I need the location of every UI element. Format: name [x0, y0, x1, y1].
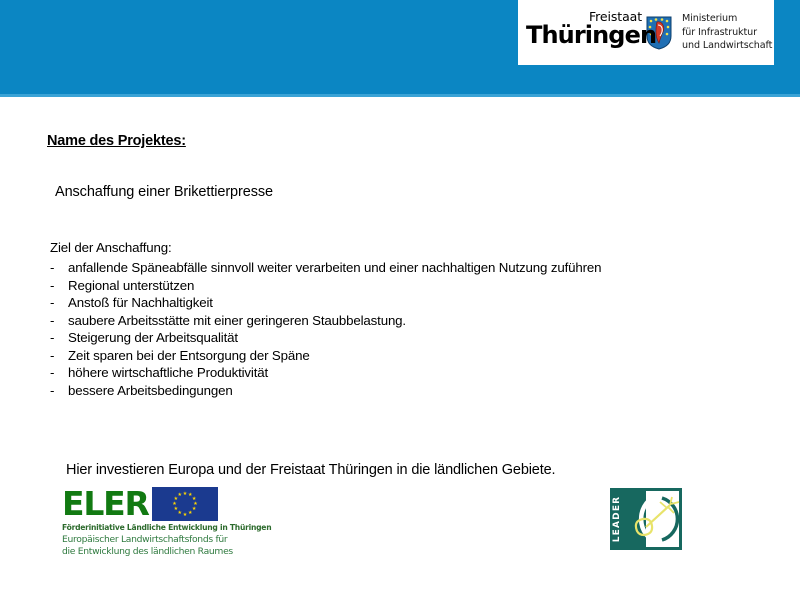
eu-flag-star-icon: ★: [188, 511, 192, 515]
eu-flag-star-icon: ★: [177, 511, 181, 515]
eu-flag-star-icon: ★: [177, 493, 181, 497]
funding-tagline: Hier investieren Europa und der Freistaa…: [66, 462, 555, 478]
goal-bullet-marker: -: [50, 259, 68, 277]
header-underline-strip: [0, 94, 800, 97]
goal-item-text: Steigerung der Arbeitsqualität: [68, 329, 238, 347]
eler-subtitle-initiative: Förderinitiative Ländliche Entwicklung i…: [62, 523, 238, 532]
goal-list-item: -Steigerung der Arbeitsqualität: [50, 329, 750, 347]
eler-subtitle-fund-line-1: Europäischer Landwirtschaftsfonds für: [62, 534, 238, 546]
goal-item-text: bessere Arbeitsbedingungen: [68, 382, 233, 400]
goals-list: -anfallende Späneabfälle sinnvoll weiter…: [50, 259, 750, 399]
goals-heading: Ziel der Anschaffung:: [50, 240, 750, 255]
freistaat-thueringen-wordmark: Freistaat Thüringen: [526, 7, 644, 59]
eler-subtitle-fund-line-2: die Entwicklung des ländlichen Raumes: [62, 546, 238, 558]
leader-wordmark-text: LEADER: [612, 496, 622, 543]
goal-item-text: Zeit sparen bei der Entsorgung der Späne: [68, 347, 310, 365]
wordmark-thueringen-text: Thüringen: [526, 23, 656, 47]
eu-flag-star-icon: ★: [192, 507, 196, 511]
goal-list-item: -höhere wirtschaftliche Produktivität: [50, 364, 750, 382]
goal-item-text: Anstoß für Nachhaltigkeit: [68, 294, 213, 312]
goal-item-text: Regional unterstützen: [68, 277, 194, 295]
goal-item-text: saubere Arbeitsstätte mit einer geringer…: [68, 312, 406, 330]
leader-programme-logo: LEADER: [610, 488, 682, 550]
goal-item-text: höhere wirtschaftliche Produktivität: [68, 364, 268, 382]
eu-flag-star-icon: ★: [172, 502, 176, 506]
goal-list-item: -saubere Arbeitsstätte mit einer geringe…: [50, 312, 750, 330]
eler-logo-top-row: ELER ★★★★★★★★★★★★: [62, 487, 238, 521]
ministry-logo-box: Freistaat Thüringen Ministerium für Infr…: [518, 0, 774, 65]
goal-bullet-marker: -: [50, 347, 68, 365]
ministry-line-2: für Infrastruktur: [682, 26, 774, 40]
goal-bullet-marker: -: [50, 277, 68, 295]
project-name-label: Name des Projektes:: [47, 133, 186, 149]
ministry-name-block: Ministerium für Infrastruktur und Landwi…: [682, 12, 774, 53]
goal-bullet-marker: -: [50, 294, 68, 312]
eler-wordmark-text: ELER: [62, 487, 149, 521]
project-name-value: Anschaffung einer Brikettierpresse: [55, 184, 273, 200]
ministry-line-1: Ministerium: [682, 12, 774, 26]
eu-flag-star-icon: ★: [183, 492, 187, 496]
goal-list-item: -Anstoß für Nachhaltigkeit: [50, 294, 750, 312]
ministry-line-3: und Landwirtschaft: [682, 39, 774, 53]
goal-bullet-marker: -: [50, 364, 68, 382]
goal-bullet-marker: -: [50, 382, 68, 400]
goal-list-item: -Regional unterstützen: [50, 277, 750, 295]
eler-logo: ELER ★★★★★★★★★★★★ Förderinitiative Ländl…: [62, 487, 238, 558]
goal-list-item: -anfallende Späneabfälle sinnvoll weiter…: [50, 259, 750, 277]
goal-list-item: -Zeit sparen bei der Entsorgung der Spän…: [50, 347, 750, 365]
goal-item-text: anfallende Späneabfälle sinnvoll weiter …: [68, 259, 601, 277]
eu-flag-star-icon: ★: [183, 513, 187, 517]
goals-section: Ziel der Anschaffung: -anfallende Spänea…: [50, 240, 750, 399]
eu-flag-star-icon: ★: [174, 507, 178, 511]
goal-bullet-marker: -: [50, 312, 68, 330]
goal-list-item: -bessere Arbeitsbedingungen: [50, 382, 750, 400]
goal-bullet-marker: -: [50, 329, 68, 347]
european-union-flag-icon: ★★★★★★★★★★★★: [152, 487, 218, 521]
